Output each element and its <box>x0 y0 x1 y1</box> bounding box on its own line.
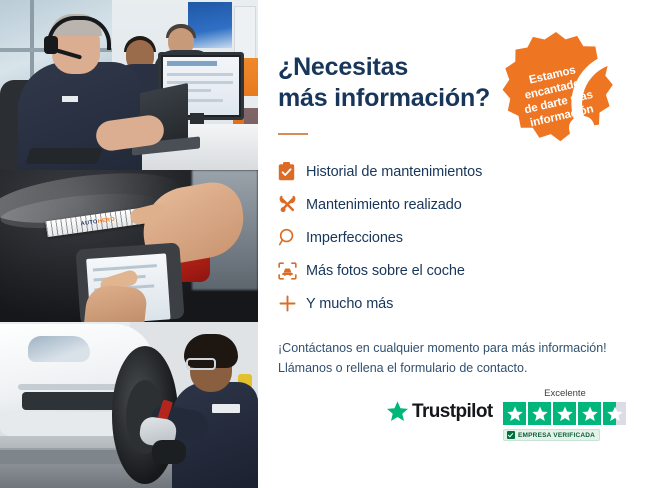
trustpilot-logo[interactable]: Trustpilot <box>386 400 493 423</box>
promo-banner: AUTOHERO <box>0 0 650 488</box>
star-partial <box>603 402 626 425</box>
check-icon <box>507 431 515 439</box>
desk-tablet <box>25 148 102 164</box>
monitor-header-bar <box>167 61 217 66</box>
contact-line-2: Llámanos o rellena el formulario de cont… <box>278 358 638 378</box>
rating-label: Excelente <box>503 388 627 399</box>
wall-poster <box>188 2 232 48</box>
crossed-tools-icon <box>278 195 306 214</box>
title-underline-rule <box>278 133 308 135</box>
verified-company-badge: EMPRESA VERIFICADA <box>503 429 600 441</box>
feature-item-mantenimiento: Mantenimiento realizado <box>278 188 618 221</box>
feature-item-imperfecciones: Imperfecciones <box>278 221 618 254</box>
call-centre-agents-photo <box>0 0 258 170</box>
mechanic-glove-lower <box>152 440 186 464</box>
feature-label: Y mucho más <box>306 296 393 312</box>
feature-item-historial: Historial de mantenimientos <box>278 155 618 188</box>
trustpilot-rating: Excelente <box>503 388 627 444</box>
feature-item-mas-fotos: Más fotos sobre el coche <box>278 254 618 287</box>
agent-name-badge <box>62 96 78 102</box>
trustpilot-widget[interactable]: Trustpilot Excelente <box>386 388 636 448</box>
feature-list: Historial de mantenimientos Mantenimient… <box>278 155 618 320</box>
page-title: ¿Necesitas más información? <box>278 52 518 113</box>
feature-label: Mantenimiento realizado <box>306 197 462 213</box>
star-filled <box>503 402 526 425</box>
feature-item-y-mucho-mas: Y mucho más <box>278 287 618 320</box>
clipboard-check-icon <box>278 162 306 181</box>
page-title-line-1: ¿Necesitas <box>278 52 518 83</box>
contact-copy: ¡Contáctanos en cualquier momento para m… <box>278 338 638 379</box>
magnifier-icon <box>278 228 306 247</box>
photo-column: AUTOHERO <box>0 0 258 488</box>
contact-line-1: ¡Contáctanos en cualquier momento para m… <box>278 338 638 358</box>
car-scan-icon <box>278 262 306 280</box>
star-filled <box>528 402 551 425</box>
verified-label: EMPRESA VERIFICADA <box>518 432 595 439</box>
trustpilot-star-icon <box>386 400 409 423</box>
feature-label: Historial de mantenimientos <box>306 164 482 180</box>
badge-rotated-content: Estamos encantados de darte más informac… <box>483 18 629 164</box>
monitor-row <box>167 81 233 84</box>
star-filled <box>553 402 576 425</box>
plus-icon <box>278 294 306 313</box>
car-inspection-ruler-tablet-photo: AUTOHERO <box>0 170 258 322</box>
star-filled <box>578 402 601 425</box>
feature-label: Imperfecciones <box>306 230 403 246</box>
mechanic-shirt-logo <box>212 404 240 413</box>
car-grille <box>22 392 122 410</box>
mechanic-wheel-inspection-photo <box>0 322 258 488</box>
monitor-row <box>167 73 233 76</box>
content-panel: ¿Necesitas más información? Estamos enca… <box>258 0 650 488</box>
mechanic-safety-glasses <box>186 358 216 370</box>
star-rating <box>503 402 627 425</box>
trustpilot-wordmark: Trustpilot <box>412 401 493 423</box>
info-starburst-badge: Estamos encantados de darte más informac… <box>495 30 617 152</box>
page-title-line-2: más información? <box>278 83 518 114</box>
feature-label: Más fotos sobre el coche <box>306 263 465 279</box>
car-headlight <box>28 336 90 362</box>
